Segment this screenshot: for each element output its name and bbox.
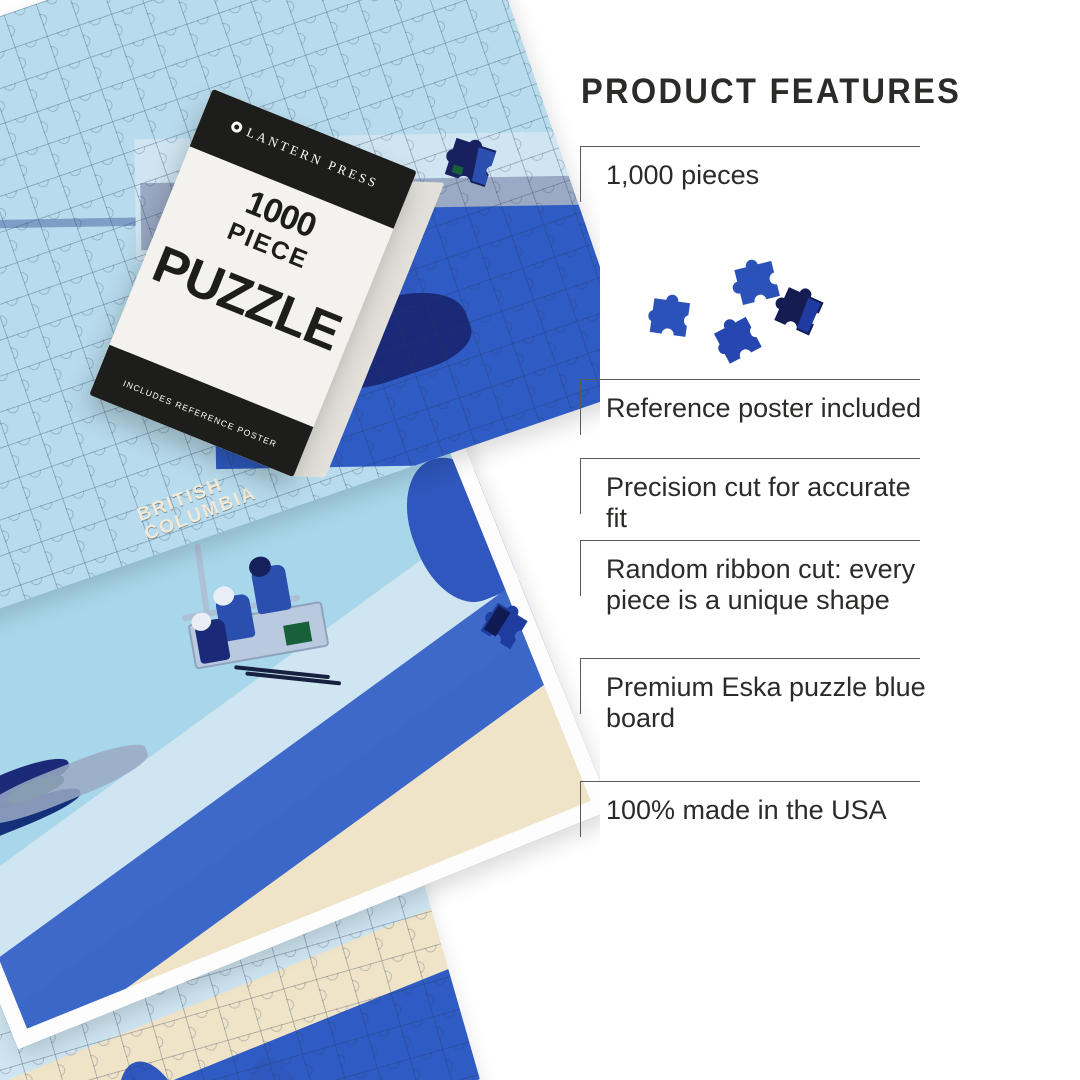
feature-rule bbox=[580, 146, 920, 147]
product-feature-graphic: BRITISH COLUMBIA LANTERN PRESS 1000 PIEC… bbox=[0, 0, 1080, 1080]
feature-label: 100% made in the USA bbox=[606, 795, 936, 826]
feature-rule bbox=[580, 658, 920, 659]
feature-label: Random ribbon cut: every piece is a uniq… bbox=[606, 554, 936, 617]
features-panel: PRODUCT FEATURES 1,000 pieces Reference … bbox=[578, 0, 1080, 1080]
feature-stub bbox=[580, 458, 581, 514]
feature-rule bbox=[580, 781, 920, 782]
feature-stub bbox=[580, 781, 581, 837]
feature-label: 1,000 pieces bbox=[606, 160, 936, 191]
feature-rule bbox=[580, 379, 920, 380]
page-title: PRODUCT FEATURES bbox=[581, 72, 961, 112]
feature-stub bbox=[580, 379, 581, 435]
feature-rule bbox=[580, 540, 920, 541]
feature-stub bbox=[580, 658, 581, 714]
feature-label: Precision cut for accurate fit bbox=[606, 472, 936, 535]
feature-rule bbox=[580, 458, 920, 459]
feature-stub bbox=[580, 146, 581, 202]
feature-stub bbox=[580, 540, 581, 596]
lantern-press-logo-icon bbox=[229, 120, 243, 134]
feature-label: Premium Eska puzzle blue board bbox=[606, 672, 936, 735]
feature-label: Reference poster included bbox=[606, 393, 936, 424]
